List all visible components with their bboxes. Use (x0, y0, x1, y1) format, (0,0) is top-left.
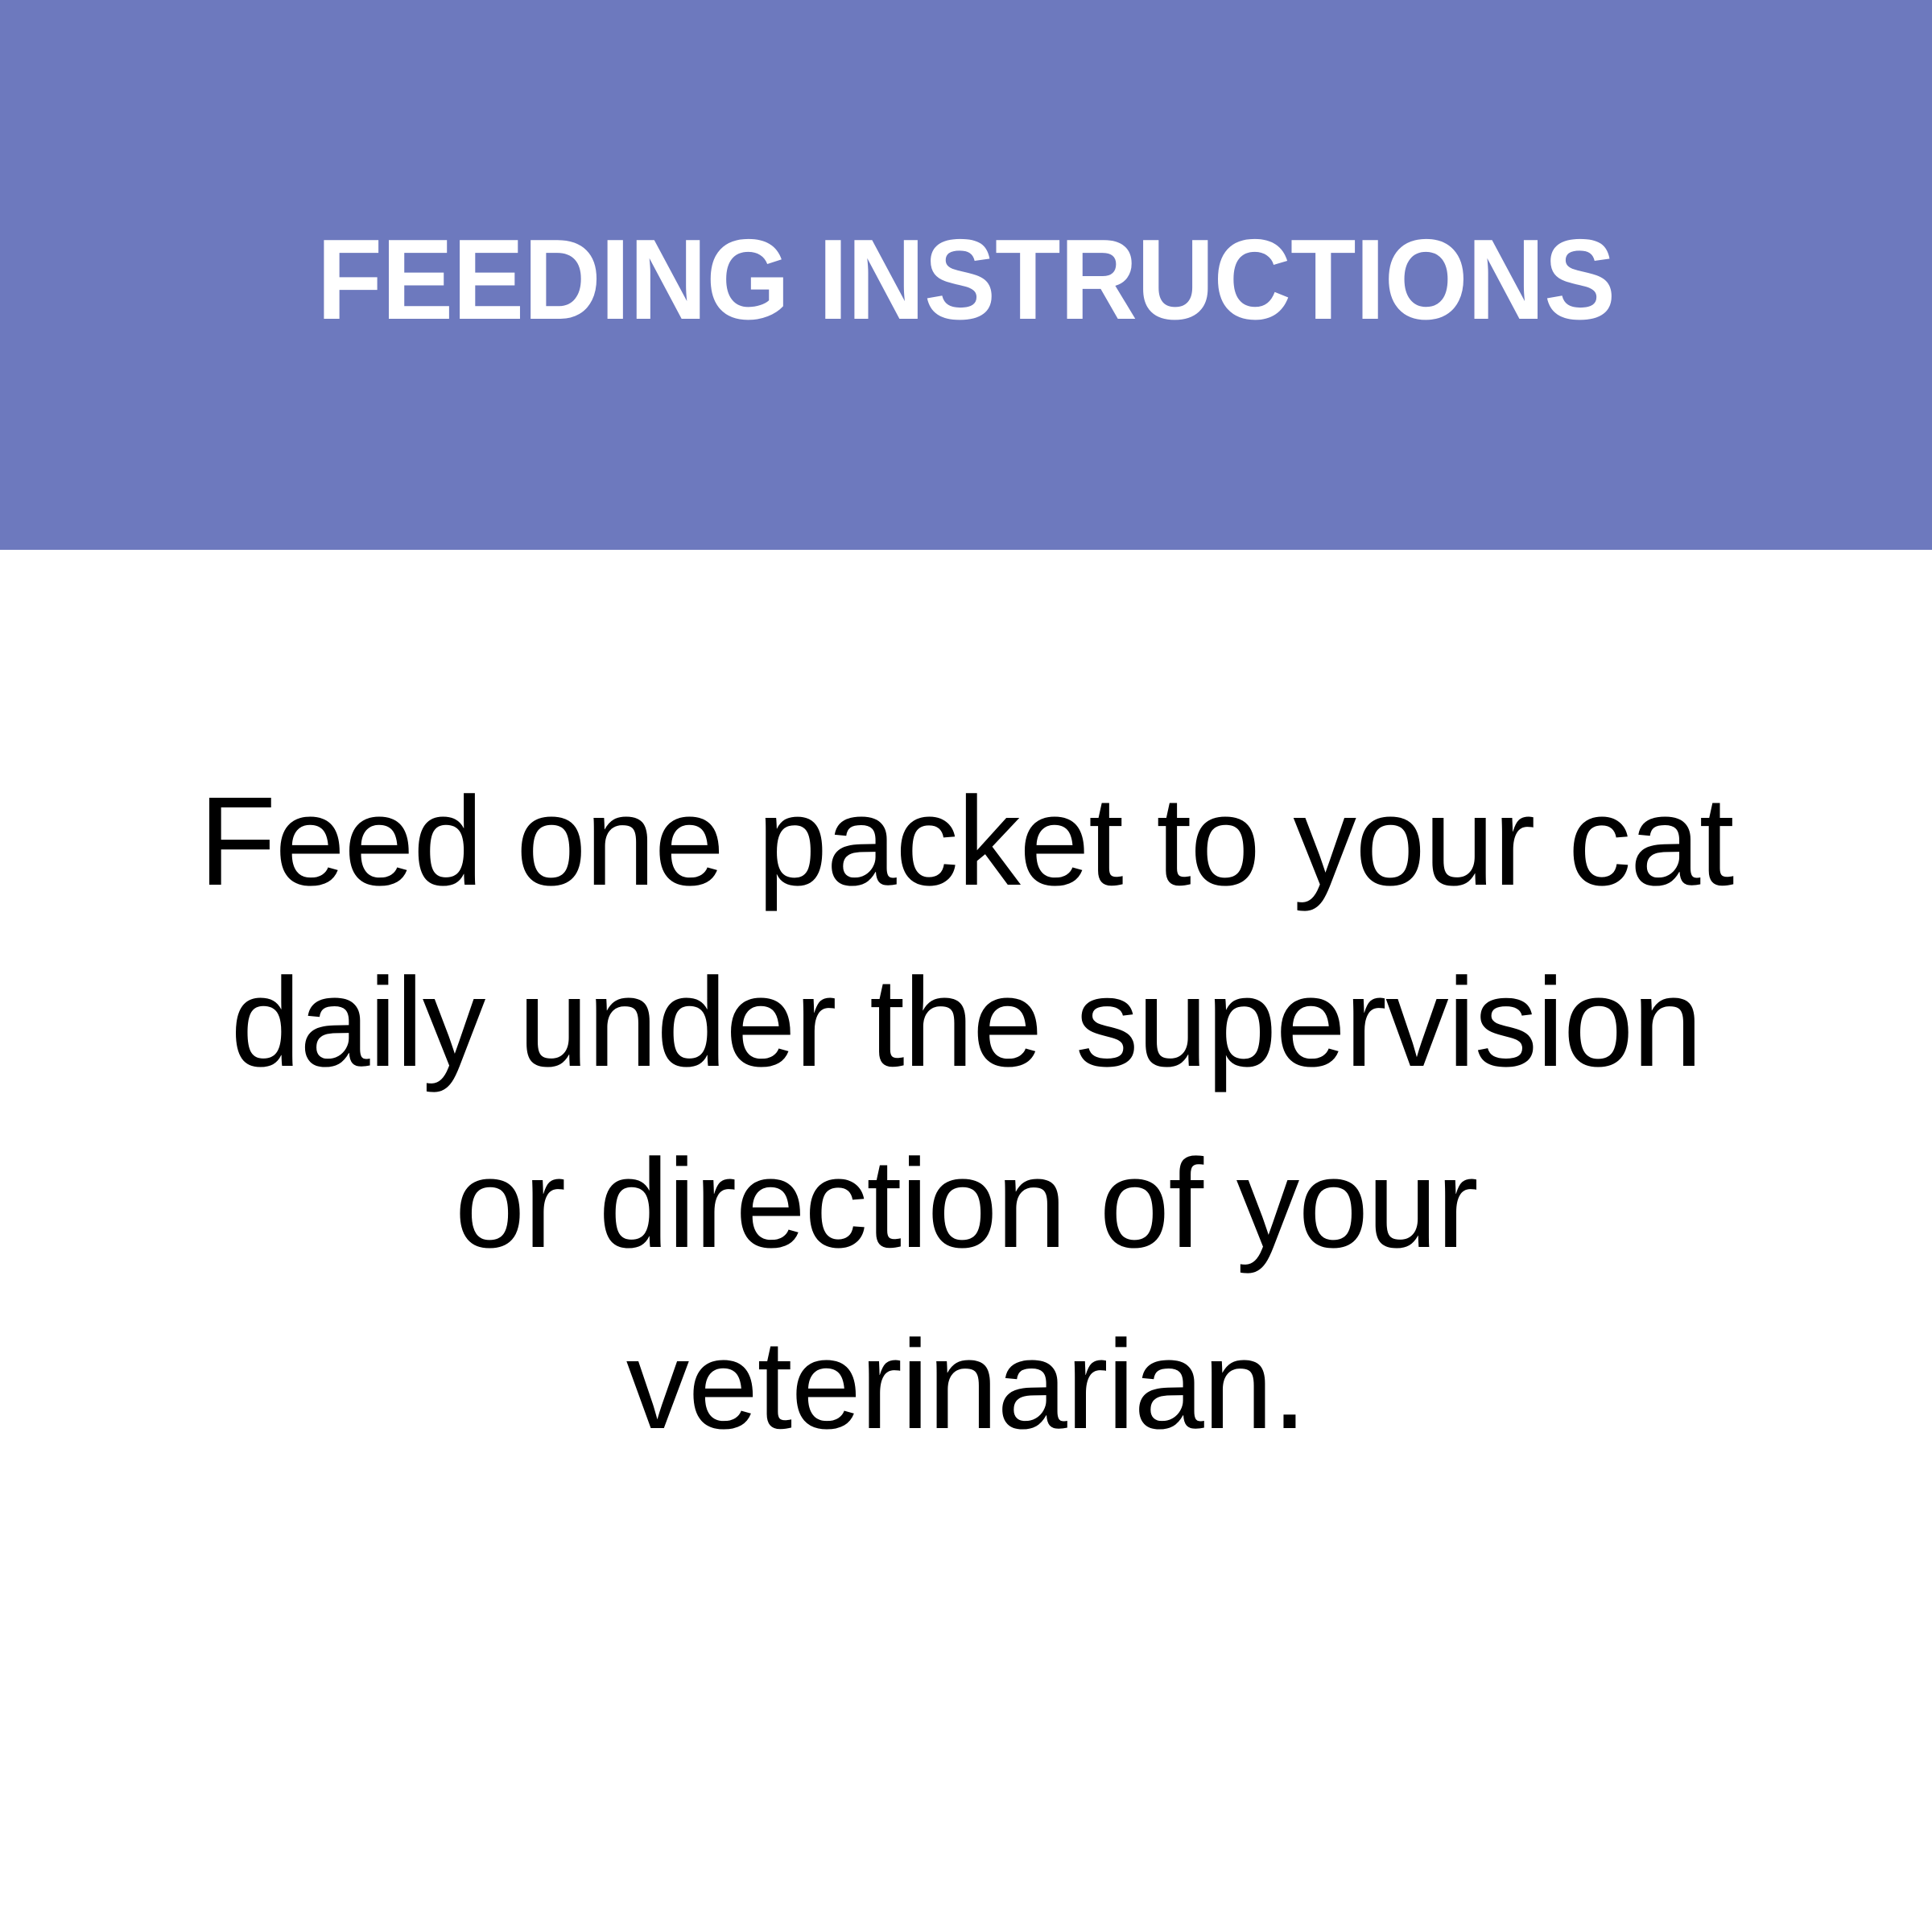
page-title: FEEDING INSTRUCTIONS (317, 223, 1616, 337)
feeding-instruction-text: Feed one packet to your cat daily under … (193, 751, 1739, 1476)
feeding-instructions-card: FEEDING INSTRUCTIONS Feed one packet to … (0, 0, 1932, 1932)
header-band: FEEDING INSTRUCTIONS (0, 0, 1932, 550)
body-area: Feed one packet to your cat daily under … (0, 550, 1932, 1932)
